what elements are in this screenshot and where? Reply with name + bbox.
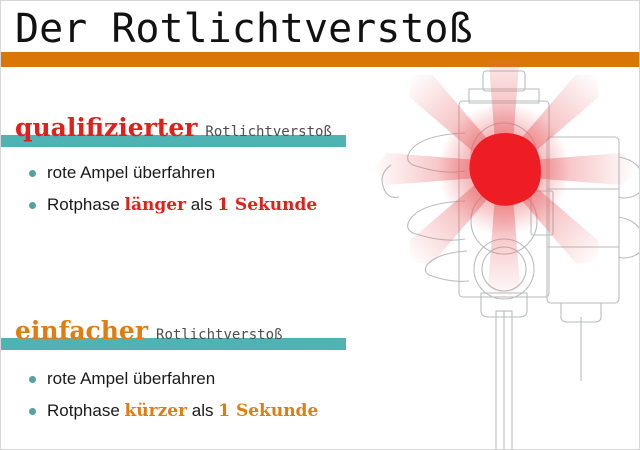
bullet-text: rote Ampel überfahren — [47, 163, 215, 182]
list-item: rote Ampel überfahren — [1, 157, 317, 189]
section-qualified: qualifizierterRotlichtverstoß rote Ampel… — [1, 113, 332, 147]
slide-canvas: Der Rotlichtverstoß qualifizierterRotlic… — [0, 0, 640, 450]
bullet-text: Rotphase — [47, 401, 125, 420]
heading-strong-qualified: qualifizierter — [15, 113, 197, 142]
section-heading-qualified: qualifizierterRotlichtverstoß — [1, 113, 332, 147]
bullet-text: als — [187, 401, 218, 420]
bullet-dot-icon — [29, 202, 36, 209]
bullet-dot-icon — [29, 408, 36, 415]
bullet-list-qualified: rote Ampel überfahren Rotphase länger al… — [1, 157, 317, 221]
bullet-text: als — [186, 195, 217, 214]
bullet-text: rote Ampel überfahren — [47, 369, 215, 388]
bullet-emphasis: 1 Sekunde — [218, 401, 318, 421]
bullet-emphasis: länger — [125, 195, 187, 215]
list-item: rote Ampel überfahren — [1, 363, 318, 395]
page-title: Der Rotlichtverstoß — [15, 5, 473, 53]
list-item: Rotphase länger als 1 Sekunde — [1, 189, 317, 221]
section-heading-simple: einfacherRotlichtverstoß — [1, 316, 282, 350]
bullet-text: Rotphase — [47, 195, 125, 214]
bullet-dot-icon — [29, 376, 36, 383]
bullet-emphasis: kürzer — [125, 401, 188, 421]
list-item: Rotphase kürzer als 1 Sekunde — [1, 395, 318, 427]
traffic-light-illustration — [371, 61, 640, 450]
bullet-dot-icon — [29, 170, 36, 177]
heading-suffix-qualified: Rotlichtverstoß — [205, 124, 331, 140]
section-simple: einfacherRotlichtverstoß rote Ampel über… — [1, 316, 282, 350]
bullet-list-simple: rote Ampel überfahren Rotphase kürzer al… — [1, 363, 318, 427]
heading-suffix-simple: Rotlichtverstoß — [156, 327, 282, 343]
heading-strong-simple: einfacher — [15, 316, 148, 345]
bullet-emphasis: 1 Sekunde — [217, 195, 317, 215]
